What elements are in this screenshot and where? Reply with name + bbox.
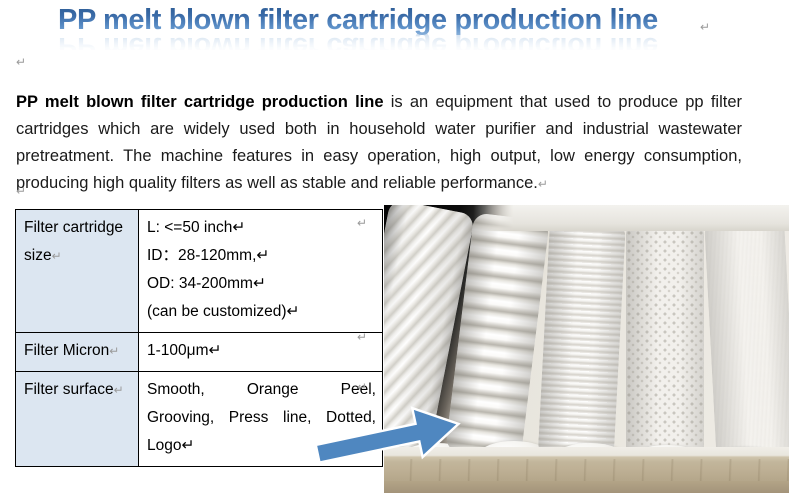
table-row: Filter Micron↵ 1-100μm↵ — [16, 333, 383, 372]
title-paragraph-mark: ↵ — [700, 20, 710, 34]
spec-label-text: Filter surface — [24, 381, 114, 398]
intro-paragraph-mark: ↵ — [538, 177, 548, 191]
row-end-mark: ↵ — [357, 216, 367, 230]
spec-label-cell: Filter cartridge size↵ — [16, 210, 139, 333]
spec-label-cell: Filter surface↵ — [16, 372, 139, 467]
specification-table: Filter cartridge size↵ L: <=50 inch↵ ID：… — [15, 209, 383, 467]
intro-lead-bold: PP melt blown filter cartridge productio… — [16, 93, 384, 111]
product-photo — [384, 205, 789, 493]
spec-value-cell: 1-100μm↵ — [139, 333, 383, 372]
table-row: Filter surface↵ Smooth, Orange Peel, Gro… — [16, 372, 383, 467]
filter-cartridge-fine-grooving — [538, 219, 626, 461]
cell-paragraph-mark: ↵ — [52, 249, 62, 263]
spec-value-line: ID：28-120mm,↵ — [147, 242, 376, 270]
reflection-fade-cover — [0, 50, 789, 64]
row-end-mark: ↵ — [357, 330, 367, 344]
spec-value-line: 1-100μm↵ — [147, 337, 376, 365]
cell-paragraph-mark: ↵ — [109, 344, 119, 358]
filter-cartridge-dotted — [626, 221, 704, 461]
spec-value-line: (can be customized)↵ — [147, 298, 376, 326]
page-title: PP melt blown filter cartridge productio… — [58, 4, 658, 37]
cartridge-surface-texture — [704, 217, 789, 463]
spec-value-line: Grooving, Press line, Dotted, — [147, 404, 376, 432]
spec-value-line: Smooth, Orange Peel, — [147, 376, 376, 404]
spec-label-cell: Filter Micron↵ — [16, 333, 139, 372]
spec-value-line: Logo↵ — [147, 432, 376, 460]
photo-machine-frame — [384, 205, 789, 231]
empty-paragraph-mark-top: ↵ — [16, 55, 26, 69]
empty-paragraph-mark-bottom: ↵ — [16, 184, 26, 198]
cartridge-surface-texture — [538, 219, 626, 461]
spec-value-line: L: <=50 inch↵ — [147, 214, 376, 242]
filter-cartridge-smooth — [704, 217, 789, 463]
spec-value-line: OD: 34-200mm↵ — [147, 270, 376, 298]
intro-paragraph: PP melt blown filter cartridge productio… — [16, 89, 742, 198]
spec-label-text: Filter Micron — [24, 342, 109, 359]
document-title-block: PP melt blown filter cartridge productio… — [0, 0, 789, 56]
photo-shelf-front-edge — [384, 481, 789, 493]
spec-value-cell: L: <=50 inch↵ ID：28-120mm,↵ OD: 34-200mm… — [139, 210, 383, 333]
spec-value-cell: Smooth, Orange Peel, Grooving, Press lin… — [139, 372, 383, 467]
cell-paragraph-mark: ↵ — [114, 383, 124, 397]
table-row: Filter cartridge size↵ L: <=50 inch↵ ID：… — [16, 210, 383, 333]
cartridge-surface-texture — [626, 221, 704, 461]
spec-label-text: Filter cartridge size — [24, 219, 123, 264]
row-end-mark: ↵ — [357, 380, 367, 394]
